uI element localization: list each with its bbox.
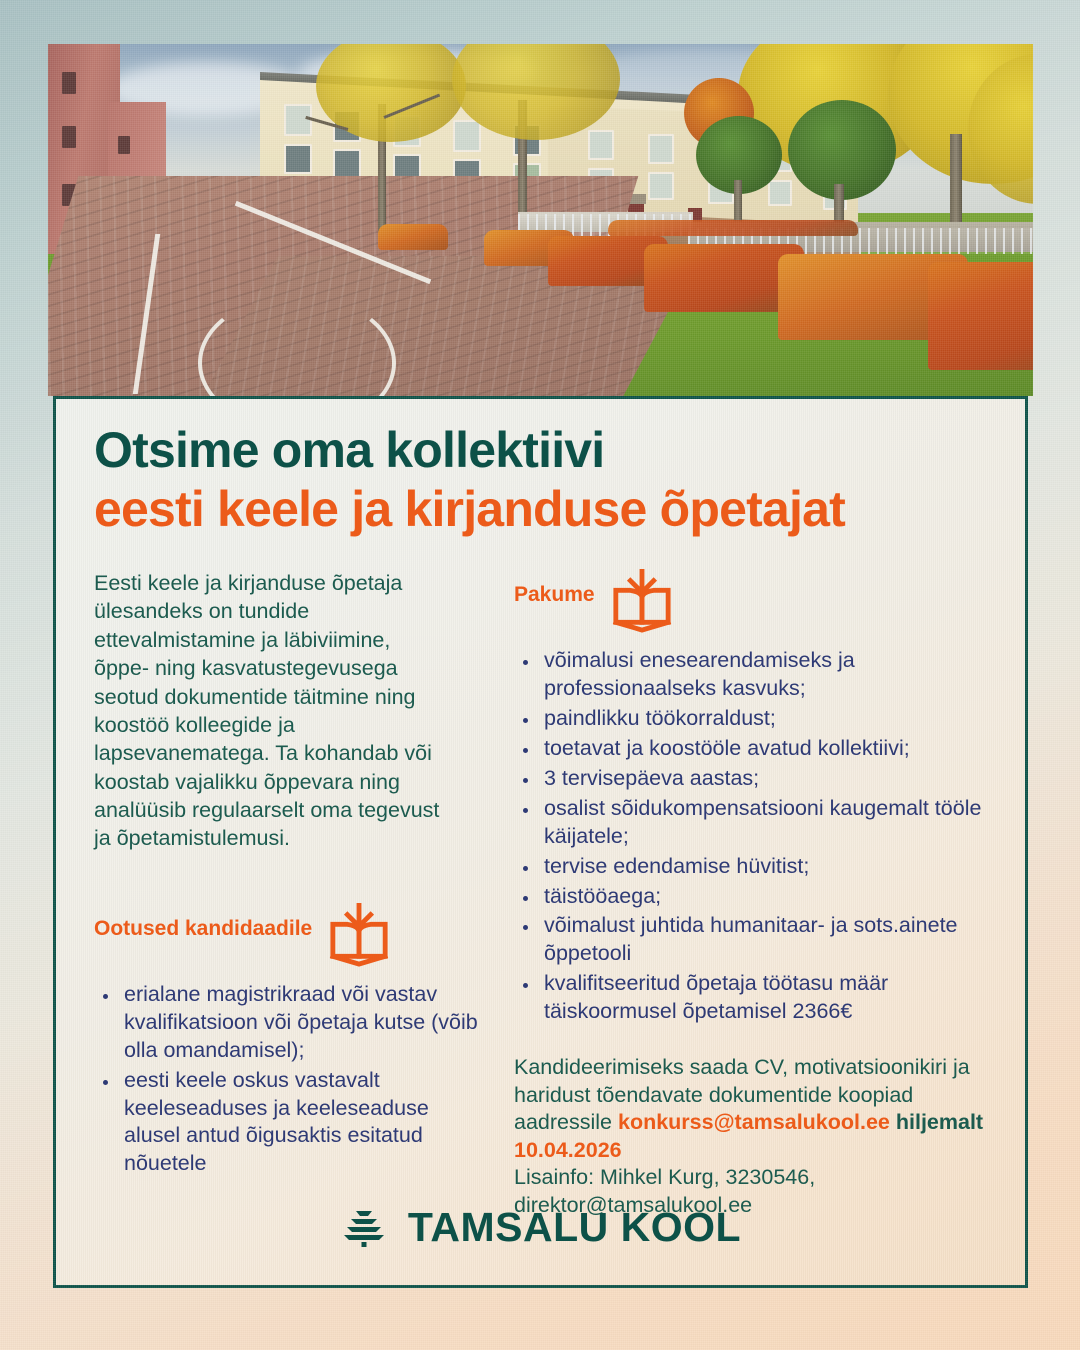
window bbox=[648, 134, 674, 164]
headline-line-2: eesti keele ja kirjanduse õpetajat bbox=[94, 484, 987, 535]
list-item: eesti keele oskus vastavalt keeleseaduse… bbox=[120, 1067, 486, 1179]
expectations-heading: Ootused kandidaadile bbox=[94, 903, 312, 941]
list-item: osalist sõidukompensatsiooni kaugemalt t… bbox=[540, 795, 987, 851]
list-item: võimalusi enesearendamiseks ja professio… bbox=[540, 647, 987, 703]
logo-text: TAMSALU KOOL bbox=[408, 1204, 741, 1251]
expectations-list: erialane magistrikraad või vastav kvalif… bbox=[94, 981, 486, 1179]
school-courtyard-photo bbox=[48, 44, 1033, 396]
hedge bbox=[378, 224, 448, 250]
expectations-section: Ootused kandidaadile bbox=[94, 903, 486, 1179]
spruce-tree-icon bbox=[340, 1203, 388, 1251]
offer-heading: Pakume bbox=[514, 569, 595, 607]
list-item: 3 tervisepäeva aastas; bbox=[540, 765, 987, 793]
list-item: erialane magistrikraad või vastav kvalif… bbox=[120, 981, 486, 1065]
window bbox=[453, 120, 481, 152]
list-item: tervise edendamise hüvitist; bbox=[540, 853, 987, 881]
list-item: võimalust juhtida humanitaar- ja sots.ai… bbox=[540, 912, 987, 968]
right-column: Pakume võimalusi enesear bbox=[514, 569, 987, 1219]
deadline-label: hiljemalt bbox=[890, 1110, 983, 1134]
contact-line: Lisainfo: Mihkel Kurg, 3230546, bbox=[514, 1165, 815, 1189]
window bbox=[284, 144, 312, 174]
apply-email[interactable]: konkurss@tamsalukool.ee bbox=[618, 1110, 890, 1134]
offer-header-row: Pakume bbox=[514, 569, 987, 633]
list-item: kvalifitseeritud õpetaja töötasu määr tä… bbox=[540, 970, 987, 1026]
window bbox=[648, 172, 674, 200]
expectations-header-row: Ootused kandidaadile bbox=[94, 903, 486, 967]
open-book-icon bbox=[328, 903, 390, 967]
deadline-date: 10.04.2026 bbox=[514, 1138, 622, 1162]
window bbox=[588, 130, 614, 160]
window bbox=[62, 72, 76, 94]
headline-line-1: Otsime oma kollektiivi bbox=[94, 425, 987, 476]
logo: TAMSALU KOOL bbox=[56, 1203, 1025, 1251]
left-column: Eesti keele ja kirjanduse õpetaja ülesan… bbox=[94, 569, 486, 1219]
window bbox=[118, 136, 130, 154]
window bbox=[768, 180, 792, 206]
list-item: täistööaega; bbox=[540, 883, 987, 911]
apply-block: Kandideerimiseks saada CV, motivatsiooni… bbox=[514, 1054, 987, 1219]
hedge-front bbox=[608, 220, 858, 236]
window bbox=[62, 126, 76, 148]
window bbox=[284, 104, 312, 136]
offer-list: võimalusi enesearendamiseks ja professio… bbox=[514, 647, 987, 1026]
list-item: toetavat ja koostööle avatud kollektiivi… bbox=[540, 735, 987, 763]
content-panel: Otsime oma kollektiivi eesti keele ja ki… bbox=[53, 396, 1028, 1288]
window bbox=[333, 149, 361, 179]
hedge bbox=[928, 262, 1033, 370]
page-title: Otsime oma kollektiivi eesti keele ja ki… bbox=[94, 425, 987, 535]
poster-root: Otsime oma kollektiivi eesti keele ja ki… bbox=[0, 0, 1080, 1350]
open-book-icon bbox=[611, 569, 673, 633]
lead-paragraph: Eesti keele ja kirjanduse õpetaja ülesan… bbox=[94, 569, 449, 853]
two-column-body: Eesti keele ja kirjanduse õpetaja ülesan… bbox=[94, 569, 987, 1219]
list-item: paindlikku töökorraldust; bbox=[540, 705, 987, 733]
